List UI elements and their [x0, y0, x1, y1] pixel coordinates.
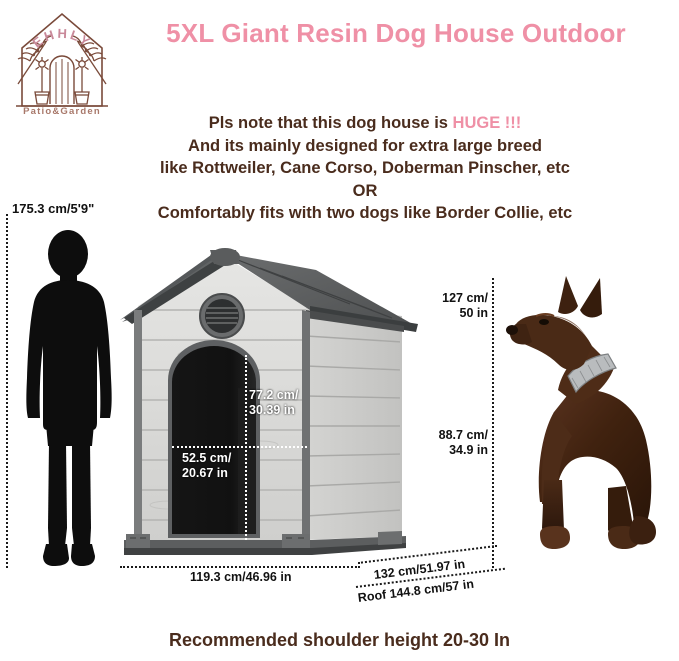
wall-height-line-2: 34.9 in: [400, 443, 488, 458]
sitting-doberman-photo: [496, 272, 676, 568]
door-width-label: 52.5 cm/ 20.67 in: [182, 451, 231, 481]
brand-logo: EHHLY Patio&Garden: [6, 6, 118, 116]
intro-huge-highlight: HUGE !!!: [453, 114, 522, 132]
dog-house-side-wall: [306, 306, 402, 540]
front-width-label: 119.3 cm/46.96 in: [190, 570, 291, 585]
intro-line-3: like Rottweiler, Cane Corso, Doberman Pi…: [60, 157, 670, 180]
person-silhouette: [22, 228, 118, 568]
product-infographic: EHHLY Patio&Garden 5XL Giant Resin Dog H…: [0, 0, 679, 661]
svg-text:EHHLY: EHHLY: [30, 26, 95, 51]
intro-line-5: Comfortably fits with two dogs like Bord…: [60, 202, 670, 225]
door-height-line-1: 77.2 cm/: [249, 388, 298, 403]
roof-height-label: 127 cm/ 50 in: [410, 291, 488, 321]
door-width-guide-line: [172, 446, 307, 448]
dog-photo: [496, 272, 676, 568]
corner-post-left: [134, 310, 142, 542]
intro-description: Pls note that this dog house is HUGE !!!…: [60, 112, 670, 225]
door-width-line-1: 52.5 cm/: [182, 451, 231, 466]
front-width-guide-line: [120, 566, 360, 568]
human-height-label: 175.3 cm/5'9": [12, 201, 94, 216]
dog-nose: [506, 325, 518, 335]
intro-line-4: OR: [60, 180, 670, 203]
intro-line-1-prefix: Pls note that this dog house is: [209, 114, 453, 132]
house-outline-with-plants-logo: EHHLY Patio&Garden: [6, 6, 118, 116]
human-height-guide-line: [6, 214, 8, 568]
dog-ear-right: [580, 278, 602, 317]
recommendation-footer: Recommended shoulder height 20-30 In: [0, 630, 679, 651]
door-height-label: 77.2 cm/ 30.39 in: [249, 388, 298, 418]
standing-person-silhouette-icon: [22, 228, 118, 568]
intro-line-2: And its mainly designed for extra large …: [60, 135, 670, 158]
dog-ear-left: [558, 276, 578, 314]
roof-height-guide-line: [492, 278, 494, 568]
door-width-line-2: 20.67 in: [182, 466, 231, 481]
roof-height-line-1: 127 cm/: [410, 291, 488, 306]
door-height-line-2: 30.39 in: [249, 403, 298, 418]
wall-height-label: 88.7 cm/ 34.9 in: [400, 428, 488, 458]
wall-height-line-1: 88.7 cm/: [400, 428, 488, 443]
brand-name: EHHLY: [30, 26, 95, 51]
dog-eye: [539, 319, 549, 325]
roof-height-line-2: 50 in: [410, 306, 488, 321]
page-title: 5XL Giant Resin Dog House Outdoor: [120, 18, 672, 49]
intro-line-1: Pls note that this dog house is HUGE !!!: [60, 112, 670, 135]
